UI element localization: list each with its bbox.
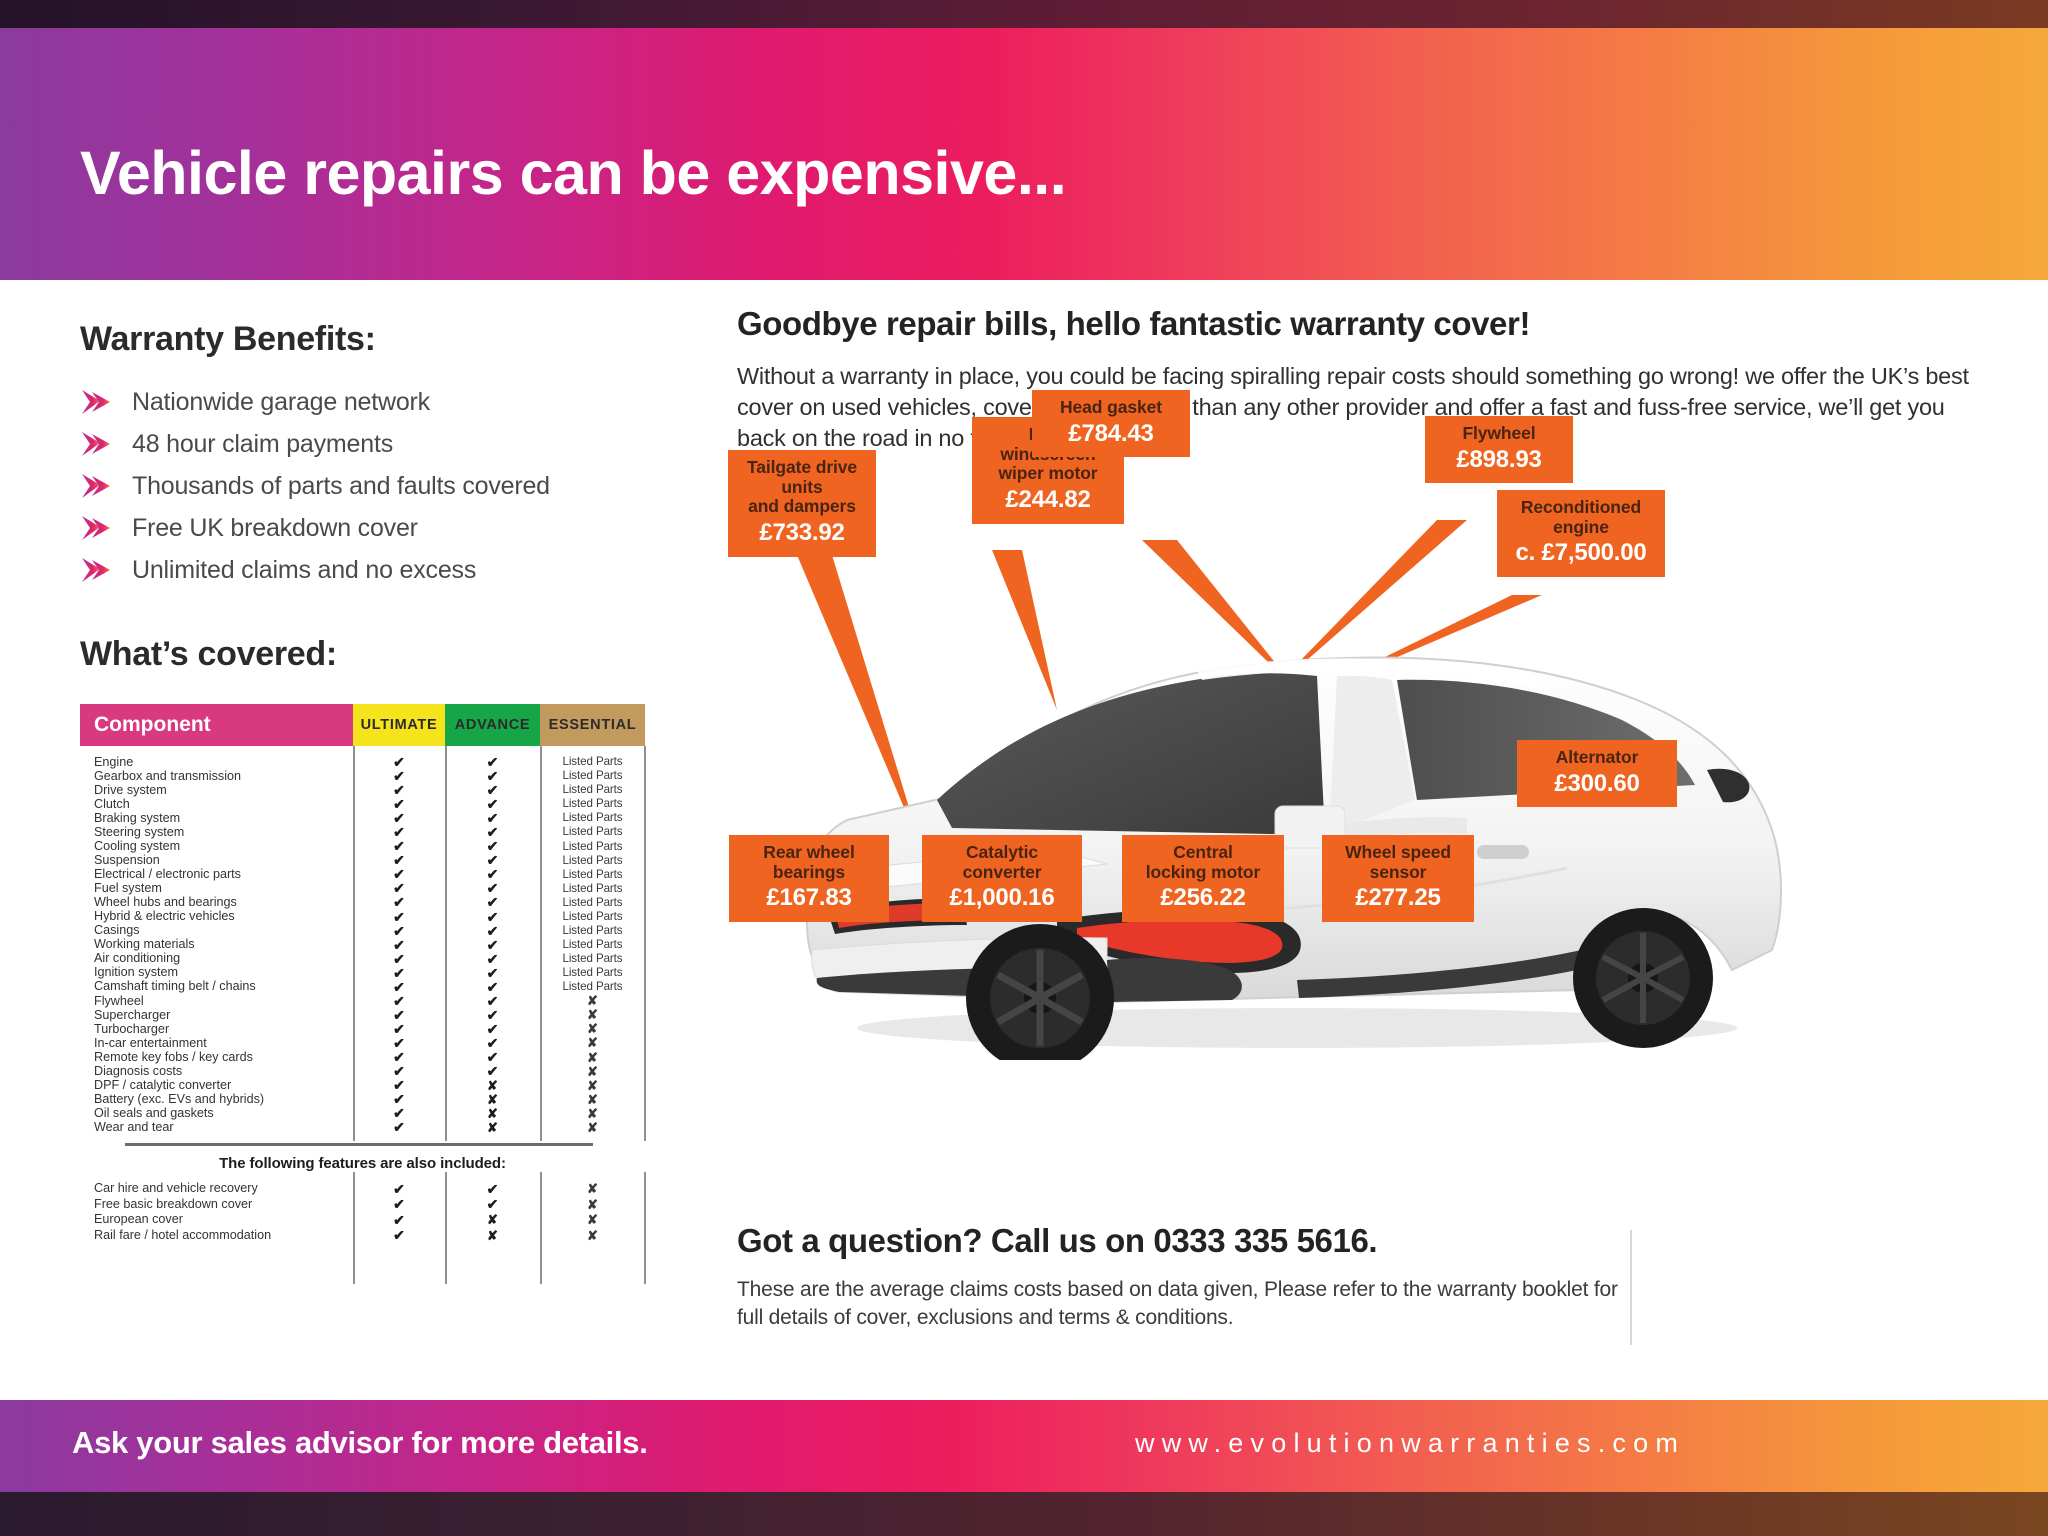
column-header-essential: ESSENTIAL: [540, 704, 645, 746]
coverage-table-header: Component ULTIMATE ADVANCE ESSENTIAL: [80, 704, 645, 746]
check-icon: ✔: [487, 924, 499, 938]
check-icon: ✔: [393, 1213, 405, 1227]
check-icon: ✔: [487, 1008, 499, 1022]
cross-icon: ✘: [587, 1213, 598, 1226]
cell-ultimate: ✔: [353, 825, 445, 839]
whats-covered-heading: What’s covered:: [80, 635, 710, 674]
check-icon: ✔: [487, 1036, 499, 1050]
row-component-name: Fuel system: [80, 882, 353, 895]
check-icon: ✔: [393, 1064, 405, 1078]
intro-heading: Goodbye repair bills, hello fantastic wa…: [737, 305, 1987, 343]
cta-section: Got a question? Call us on 0333 335 5616…: [737, 1222, 1637, 1333]
check-icon: ✔: [487, 1182, 499, 1196]
row-component-name: Drive system: [80, 784, 353, 797]
cell-essential: Listed Parts: [540, 841, 645, 853]
cell-listed-parts: Listed Parts: [562, 812, 622, 824]
table-row: Casings✔✔Listed Parts: [80, 924, 645, 938]
features-title: The following features are also included…: [80, 1155, 645, 1172]
cell-ultimate: ✔: [353, 1120, 445, 1134]
table-row: Drive system✔✔Listed Parts: [80, 783, 645, 797]
row-component-name: Engine: [80, 756, 353, 769]
cell-ultimate: ✔: [353, 1197, 445, 1211]
coverage-table: Component ULTIMATE ADVANCE ESSENTIAL Eng…: [80, 704, 645, 1243]
cell-ultimate: ✔: [353, 1106, 445, 1120]
row-component-name: Steering system: [80, 826, 353, 839]
cell-essential: Listed Parts: [540, 798, 645, 810]
cell-advance: ✔: [445, 839, 540, 853]
footer-website[interactable]: www.evolutionwarranties.com: [1135, 1428, 1685, 1459]
cell-essential: ✘: [540, 1093, 645, 1106]
check-icon: ✔: [487, 966, 499, 980]
cell-ultimate: ✔: [353, 1213, 445, 1227]
cell-ultimate: ✔: [353, 1064, 445, 1078]
cell-essential: Listed Parts: [540, 981, 645, 993]
cross-icon: ✘: [587, 1229, 598, 1242]
cell-advance: ✔: [445, 783, 540, 797]
cell-essential: Listed Parts: [540, 812, 645, 824]
row-component-name: Casings: [80, 924, 353, 937]
check-icon: ✔: [487, 783, 499, 797]
check-icon: ✔: [393, 1022, 405, 1036]
features-divider-4: [644, 1172, 646, 1284]
features-body: Car hire and vehicle recovery✔✔✘Free bas…: [80, 1172, 645, 1243]
chevron-right-icon: [80, 557, 114, 583]
check-icon: ✔: [393, 1008, 405, 1022]
table-row: Steering system✔✔Listed Parts: [80, 825, 645, 839]
cell-listed-parts: Listed Parts: [562, 770, 622, 782]
check-icon: ✔: [487, 938, 499, 952]
check-icon: ✔: [487, 910, 499, 924]
cell-essential: ✘: [540, 1008, 645, 1021]
cell-essential: Listed Parts: [540, 939, 645, 951]
cell-listed-parts: Listed Parts: [562, 925, 622, 937]
callout-label: Reconditioned engine: [1511, 498, 1651, 537]
cell-advance: ✔: [445, 952, 540, 966]
table-row: Braking system✔✔Listed Parts: [80, 811, 645, 825]
cell-essential: ✘: [540, 1036, 645, 1049]
table-row: Hybrid & electric vehicles✔✔Listed Parts: [80, 910, 645, 924]
cell-ultimate: ✔: [353, 867, 445, 881]
check-icon: ✔: [393, 811, 405, 825]
cell-essential: Listed Parts: [540, 883, 645, 895]
cell-ultimate: ✔: [353, 1036, 445, 1050]
callout-price: £733.92: [742, 520, 862, 547]
cell-advance: ✔: [445, 853, 540, 867]
table-row: Cooling system✔✔Listed Parts: [80, 839, 645, 853]
check-icon: ✔: [393, 910, 405, 924]
callout-label: Wheel speed sensor: [1336, 843, 1460, 882]
cell-ultimate: ✔: [353, 839, 445, 853]
callout-price: £784.43: [1046, 421, 1176, 448]
cell-essential: Listed Parts: [540, 855, 645, 867]
benefit-label: 48 hour claim payments: [132, 430, 393, 459]
row-component-name: Electrical / electronic parts: [80, 868, 353, 881]
cross-icon: ✘: [587, 1107, 598, 1120]
row-component-name: Battery (exc. EVs and hybrids): [80, 1093, 353, 1106]
callout-price: £277.25: [1336, 885, 1460, 912]
callout-wheel-speed-sensor: Wheel speed sensor £277.25: [1322, 835, 1474, 922]
check-icon: ✔: [487, 839, 499, 853]
cell-advance: ✔: [445, 769, 540, 783]
cell-essential: ✘: [540, 1198, 645, 1211]
cell-ultimate: ✔: [353, 1050, 445, 1064]
table-row: Remote key fobs / key cards✔✔✘: [80, 1050, 645, 1064]
check-icon: ✔: [487, 980, 499, 994]
feature-name: Rail fare / hotel accommodation: [80, 1229, 353, 1242]
cell-listed-parts: Listed Parts: [562, 869, 622, 881]
check-icon: ✔: [393, 938, 405, 952]
cell-listed-parts: Listed Parts: [562, 826, 622, 838]
cross-icon: ✘: [487, 1229, 498, 1242]
row-component-name: Flywheel: [80, 995, 353, 1008]
cell-advance: ✘: [445, 1107, 540, 1120]
cell-ultimate: ✔: [353, 1078, 445, 1092]
cross-icon: ✘: [587, 1198, 598, 1211]
callout-central-locking: Central locking motor £256.22: [1122, 835, 1284, 922]
page-title: Vehicle repairs can be expensive...: [80, 138, 1066, 208]
benefit-item: Thousands of parts and faults covered: [80, 465, 710, 507]
cell-ultimate: ✔: [353, 966, 445, 980]
table-row: Ignition system✔✔Listed Parts: [80, 966, 645, 980]
cell-listed-parts: Listed Parts: [562, 981, 622, 993]
check-icon: ✔: [393, 769, 405, 783]
table-row: Wear and tear✔✘✘: [80, 1120, 645, 1134]
check-icon: ✔: [393, 755, 405, 769]
cell-advance: ✔: [445, 755, 540, 769]
cell-ultimate: ✔: [353, 783, 445, 797]
cell-essential: ✘: [540, 994, 645, 1007]
table-row: Turbocharger✔✔✘: [80, 1022, 645, 1036]
benefit-item: Free UK breakdown cover: [80, 507, 710, 549]
cell-advance: ✔: [445, 924, 540, 938]
features-divider-3: [540, 1172, 542, 1284]
cell-advance: ✔: [445, 994, 540, 1008]
callout-head-gasket: Head gasket £784.43: [1032, 390, 1190, 457]
cell-ultimate: ✔: [353, 1092, 445, 1106]
table-row: Diagnosis costs✔✔✘: [80, 1064, 645, 1078]
cell-advance: ✔: [445, 1008, 540, 1022]
cross-icon: ✘: [487, 1213, 498, 1226]
cell-essential: ✘: [540, 1213, 645, 1226]
row-component-name: Air conditioning: [80, 952, 353, 965]
check-icon: ✔: [393, 966, 405, 980]
callout-label: Head gasket: [1046, 398, 1176, 418]
check-icon: ✔: [393, 867, 405, 881]
check-icon: ✔: [393, 1078, 405, 1092]
row-component-name: Wear and tear: [80, 1121, 353, 1134]
cross-icon: ✘: [587, 1121, 598, 1134]
table-row: DPF / catalytic converter✔✘✘: [80, 1078, 645, 1092]
check-icon: ✔: [393, 1106, 405, 1120]
chevron-right-icon: [80, 515, 114, 541]
table-row: Clutch✔✔Listed Parts: [80, 797, 645, 811]
cross-icon: ✘: [487, 1079, 498, 1092]
cell-ultimate: ✔: [353, 853, 445, 867]
left-column: Warranty Benefits: Nationwide garage net…: [80, 320, 710, 1243]
cell-ultimate: ✔: [353, 769, 445, 783]
cell-essential: ✘: [540, 1051, 645, 1064]
cell-advance: ✔: [445, 895, 540, 909]
check-icon: ✔: [393, 825, 405, 839]
cell-advance: ✔: [445, 867, 540, 881]
cell-advance: ✔: [445, 1050, 540, 1064]
cell-essential: Listed Parts: [540, 869, 645, 881]
header-banner: Vehicle repairs can be expensive...: [0, 28, 2048, 280]
cell-advance: ✔: [445, 1036, 540, 1050]
table-row: Oil seals and gaskets✔✘✘: [80, 1106, 645, 1120]
cell-essential: Listed Parts: [540, 953, 645, 965]
cell-essential: Listed Parts: [540, 770, 645, 782]
check-icon: ✔: [393, 924, 405, 938]
callout-label: Alternator: [1531, 748, 1663, 768]
row-component-name: Turbocharger: [80, 1023, 353, 1036]
table-row: Camshaft timing belt / chains✔✔Listed Pa…: [80, 980, 645, 994]
column-divider-4: [644, 746, 646, 1141]
row-component-name: Diagnosis costs: [80, 1065, 353, 1078]
callout-label: Flywheel: [1439, 424, 1559, 444]
feature-name: European cover: [80, 1213, 353, 1226]
row-component-name: Ignition system: [80, 966, 353, 979]
benefit-label: Unlimited claims and no excess: [132, 556, 476, 585]
right-column: Goodbye repair bills, hello fantastic wa…: [737, 305, 1987, 454]
benefit-label: Thousands of parts and faults covered: [132, 472, 550, 501]
cross-icon: ✘: [487, 1093, 498, 1106]
cell-essential: Listed Parts: [540, 756, 645, 768]
cell-essential: ✘: [540, 1022, 645, 1035]
cross-icon: ✘: [587, 1036, 598, 1049]
cell-essential: ✘: [540, 1065, 645, 1078]
row-component-name: Working materials: [80, 938, 353, 951]
feature-row: Free basic breakdown cover✔✔✘: [80, 1196, 645, 1212]
table-row: Working materials✔✔Listed Parts: [80, 938, 645, 952]
cell-ultimate: ✔: [353, 910, 445, 924]
cell-ultimate: ✔: [353, 811, 445, 825]
cta-heading: Got a question? Call us on 0333 335 5616…: [737, 1222, 1637, 1260]
check-icon: ✔: [487, 825, 499, 839]
top-accent-bar: [0, 0, 2048, 28]
column-header-ultimate: ULTIMATE: [353, 704, 445, 746]
chevron-right-icon: [80, 431, 114, 457]
cell-essential: Listed Parts: [540, 911, 645, 923]
check-icon: ✔: [393, 1228, 405, 1242]
cell-essential: Listed Parts: [540, 784, 645, 796]
cell-advance: ✔: [445, 1064, 540, 1078]
feature-row: Rail fare / hotel accommodation✔✘✘: [80, 1227, 645, 1243]
check-icon: ✔: [487, 755, 499, 769]
benefit-label: Nationwide garage network: [132, 388, 430, 417]
callout-label: Tailgate drive units and dampers: [742, 458, 862, 517]
check-icon: ✔: [393, 994, 405, 1008]
column-header-component: Component: [80, 704, 353, 746]
benefit-item: 48 hour claim payments: [80, 423, 710, 465]
table-row: Flywheel✔✔✘: [80, 994, 645, 1008]
check-icon: ✔: [393, 881, 405, 895]
footer-message: Ask your sales advisor for more details.: [72, 1425, 648, 1461]
cell-essential: ✘: [540, 1107, 645, 1120]
cross-icon: ✘: [587, 1065, 598, 1078]
cell-advance: ✔: [445, 797, 540, 811]
callout-label: Rear wheel bearings: [743, 843, 875, 882]
check-icon: ✔: [393, 839, 405, 853]
cross-icon: ✘: [587, 1079, 598, 1092]
benefit-item: Nationwide garage network: [80, 381, 710, 423]
row-component-name: Camshaft timing belt / chains: [80, 980, 353, 993]
cell-ultimate: ✔: [353, 755, 445, 769]
cell-advance: ✔: [445, 1197, 540, 1211]
cell-ultimate: ✔: [353, 924, 445, 938]
cta-disclaimer: These are the average claims costs based…: [737, 1276, 1637, 1333]
cell-essential: Listed Parts: [540, 925, 645, 937]
cell-ultimate: ✔: [353, 952, 445, 966]
cell-ultimate: ✔: [353, 1182, 445, 1196]
check-icon: ✔: [487, 952, 499, 966]
cell-ultimate: ✔: [353, 797, 445, 811]
cell-advance: ✘: [445, 1079, 540, 1092]
check-icon: ✔: [393, 1120, 405, 1134]
feature-name: Car hire and vehicle recovery: [80, 1182, 353, 1195]
callout-price: £898.93: [1439, 447, 1559, 474]
warranty-benefits-list: Nationwide garage network48 hour claim p…: [80, 381, 710, 591]
column-divider-1: [353, 746, 355, 1141]
cell-ultimate: ✔: [353, 895, 445, 909]
cell-listed-parts: Listed Parts: [562, 855, 622, 867]
bottom-accent-bar: [0, 1492, 2048, 1536]
cell-listed-parts: Listed Parts: [562, 939, 622, 951]
check-icon: ✔: [487, 1022, 499, 1036]
callout-label: Central locking motor: [1136, 843, 1270, 882]
row-component-name: In-car entertainment: [80, 1037, 353, 1050]
check-icon: ✔: [393, 1050, 405, 1064]
check-icon: ✔: [487, 1064, 499, 1078]
cell-advance: ✔: [445, 980, 540, 994]
row-component-name: DPF / catalytic converter: [80, 1079, 353, 1092]
cell-advance: ✔: [445, 966, 540, 980]
cell-advance: ✔: [445, 881, 540, 895]
cell-essential: ✘: [540, 1182, 645, 1195]
check-icon: ✔: [393, 1092, 405, 1106]
cell-ultimate: ✔: [353, 980, 445, 994]
cell-advance: ✘: [445, 1093, 540, 1106]
table-row: Electrical / electronic parts✔✔Listed Pa…: [80, 867, 645, 881]
cell-listed-parts: Listed Parts: [562, 784, 622, 796]
check-icon: ✔: [393, 1036, 405, 1050]
row-component-name: Remote key fobs / key cards: [80, 1051, 353, 1064]
callout-price: £256.22: [1136, 885, 1270, 912]
callout-catalytic-converter: Catalytic converter £1,000.16: [922, 835, 1082, 922]
cell-essential: Listed Parts: [540, 826, 645, 838]
cell-advance: ✘: [445, 1121, 540, 1134]
row-component-name: Cooling system: [80, 840, 353, 853]
cross-icon: ✘: [587, 994, 598, 1007]
cell-advance: ✔: [445, 1182, 540, 1196]
callout-flywheel: Flywheel £898.93: [1425, 416, 1573, 483]
cell-advance: ✘: [445, 1229, 540, 1242]
column-header-advance: ADVANCE: [445, 704, 540, 746]
callout-rear-wheel-bearings: Rear wheel bearings £167.83: [729, 835, 889, 922]
column-divider-2: [445, 746, 447, 1141]
callout-label: Catalytic converter: [936, 843, 1068, 882]
row-component-name: Hybrid & electric vehicles: [80, 910, 353, 923]
callout-price: £244.82: [986, 487, 1110, 514]
cell-advance: ✔: [445, 825, 540, 839]
intro-paragraph: Without a warranty in place, you could b…: [737, 361, 1987, 454]
check-icon: ✔: [393, 895, 405, 909]
cross-icon: ✘: [587, 1008, 598, 1021]
cross-icon: ✘: [587, 1093, 598, 1106]
check-icon: ✔: [487, 994, 499, 1008]
table-row: In-car entertainment✔✔✘: [80, 1036, 645, 1050]
benefit-label: Free UK breakdown cover: [132, 514, 418, 543]
cell-advance: ✔: [445, 1022, 540, 1036]
cell-ultimate: ✔: [353, 881, 445, 895]
check-icon: ✔: [393, 853, 405, 867]
row-component-name: Clutch: [80, 798, 353, 811]
table-row: Engine✔✔Listed Parts: [80, 755, 645, 769]
callout-tailgate: Tailgate drive units and dampers £733.92: [728, 450, 876, 557]
row-component-name: Supercharger: [80, 1009, 353, 1022]
cell-essential: ✘: [540, 1079, 645, 1092]
cell-advance: ✔: [445, 938, 540, 952]
cross-icon: ✘: [587, 1182, 598, 1195]
benefit-item: Unlimited claims and no excess: [80, 549, 710, 591]
check-icon: ✔: [393, 952, 405, 966]
feature-row: European cover✔✘✘: [80, 1212, 645, 1228]
check-icon: ✔: [393, 797, 405, 811]
check-icon: ✔: [487, 853, 499, 867]
cell-ultimate: ✔: [353, 994, 445, 1008]
check-icon: ✔: [393, 1197, 405, 1211]
callout-alternator: Alternator £300.60: [1517, 740, 1677, 807]
cell-ultimate: ✔: [353, 1022, 445, 1036]
check-icon: ✔: [393, 980, 405, 994]
cell-listed-parts: Listed Parts: [562, 911, 622, 923]
cell-listed-parts: Listed Parts: [562, 953, 622, 965]
column-divider-3: [540, 746, 542, 1141]
chevron-right-icon: [80, 389, 114, 415]
cell-listed-parts: Listed Parts: [562, 756, 622, 768]
callout-price: £300.60: [1531, 771, 1663, 798]
cell-listed-parts: Listed Parts: [562, 883, 622, 895]
cell-ultimate: ✔: [353, 1008, 445, 1022]
car-diagram: Tailgate drive units and dampers £733.92…: [737, 500, 2027, 1200]
callout-reconditioned-engine: Reconditioned engine c. £7,500.00: [1497, 490, 1665, 577]
features-divider-1: [353, 1172, 355, 1284]
check-icon: ✔: [487, 881, 499, 895]
check-icon: ✔: [487, 895, 499, 909]
cell-listed-parts: Listed Parts: [562, 798, 622, 810]
cell-listed-parts: Listed Parts: [562, 841, 622, 853]
table-row: Battery (exc. EVs and hybrids)✔✘✘: [80, 1092, 645, 1106]
check-icon: ✔: [487, 797, 499, 811]
cell-essential: ✘: [540, 1121, 645, 1134]
table-row: Supercharger✔✔✘: [80, 1008, 645, 1022]
row-component-name: Braking system: [80, 812, 353, 825]
cell-essential: Listed Parts: [540, 967, 645, 979]
cross-icon: ✘: [487, 1121, 498, 1134]
chevron-right-icon: [80, 473, 114, 499]
features-divider-2: [445, 1172, 447, 1284]
cell-listed-parts: Listed Parts: [562, 967, 622, 979]
row-component-name: Suspension: [80, 854, 353, 867]
cell-listed-parts: Listed Parts: [562, 897, 622, 909]
table-row: Suspension✔✔Listed Parts: [80, 853, 645, 867]
feature-name: Free basic breakdown cover: [80, 1198, 353, 1211]
table-row: Fuel system✔✔Listed Parts: [80, 881, 645, 895]
cell-essential: ✘: [540, 1229, 645, 1242]
table-row: Wheel hubs and bearings✔✔Listed Parts: [80, 895, 645, 909]
cross-icon: ✘: [587, 1022, 598, 1035]
callout-price: £167.83: [743, 885, 875, 912]
